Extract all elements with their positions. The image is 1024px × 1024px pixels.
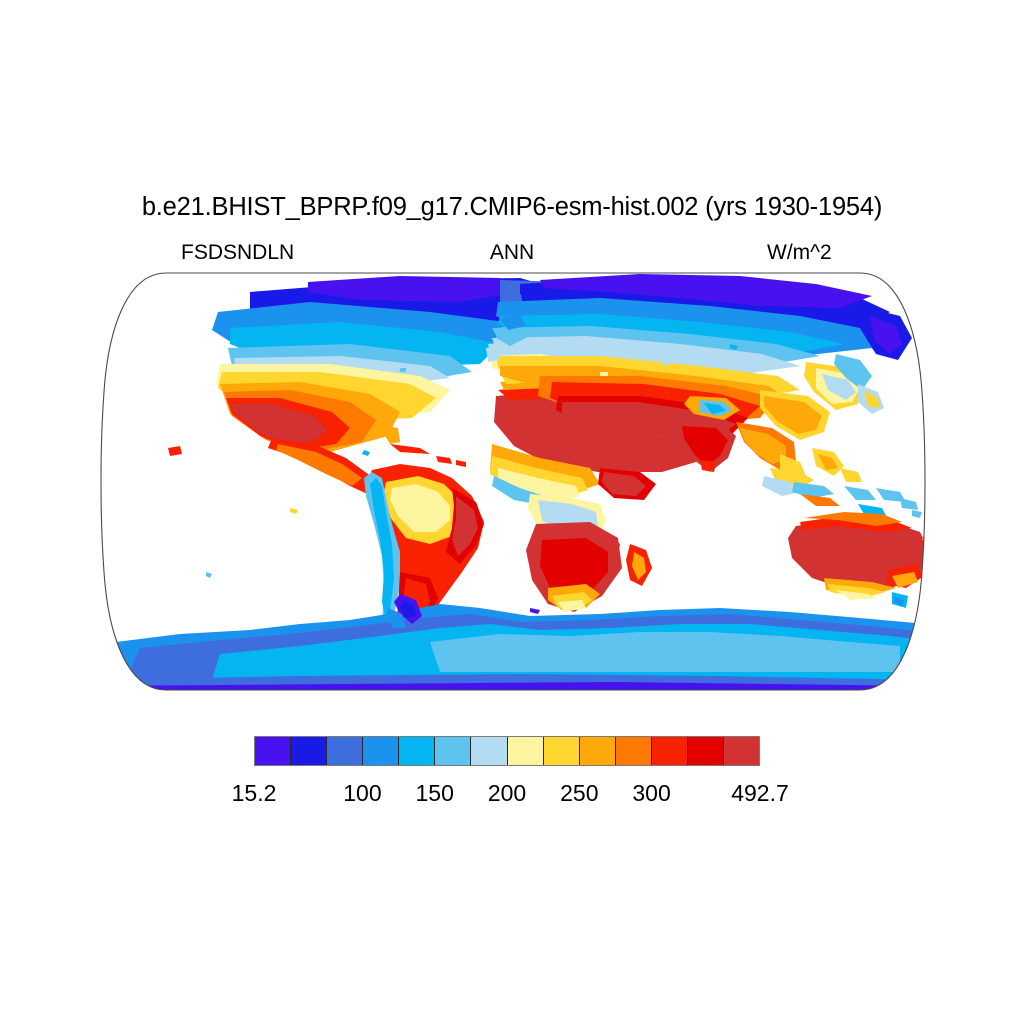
colorbar-cell bbox=[363, 737, 399, 765]
colorbar-cell bbox=[471, 737, 507, 765]
figure-title: b.e21.BHIST_BPRP.f09_g17.CMIP6-esm-hist.… bbox=[0, 192, 1024, 222]
map-plot-area bbox=[100, 272, 926, 691]
colorbar-cell bbox=[616, 737, 652, 765]
colorbar-cell bbox=[327, 737, 363, 765]
colorbar-cell bbox=[291, 737, 327, 765]
colorbar-cell bbox=[652, 737, 688, 765]
colorbar-tick-label: 250 bbox=[560, 778, 598, 808]
colorbar-cell bbox=[580, 737, 616, 765]
figure-canvas: b.e21.BHIST_BPRP.f09_g17.CMIP6-esm-hist.… bbox=[0, 0, 1024, 1024]
colorbar-tick-label: 15.2 bbox=[232, 778, 277, 808]
colorbar-tick-label: 492.7 bbox=[731, 778, 789, 808]
colorbar-tick-label: 200 bbox=[488, 778, 526, 808]
colorbar-cell bbox=[544, 737, 580, 765]
colorbar-tick-label: 300 bbox=[632, 778, 670, 808]
colorbar bbox=[254, 736, 760, 766]
season-label: ANN bbox=[0, 240, 1024, 266]
colorbar-cell bbox=[508, 737, 544, 765]
colorbar-tick-label: 150 bbox=[416, 778, 454, 808]
colorbar-tick-labels: 15.2100150200250300492.7 bbox=[0, 778, 1024, 808]
colorbar-cell bbox=[399, 737, 435, 765]
colorbar-cell bbox=[255, 737, 291, 765]
colorbar-cell bbox=[688, 737, 724, 765]
colorbar-cell bbox=[724, 737, 759, 765]
units-label: W/m^2 bbox=[767, 240, 832, 266]
colorbar-tick-label: 100 bbox=[343, 778, 381, 808]
colorbar-cell bbox=[435, 737, 471, 765]
